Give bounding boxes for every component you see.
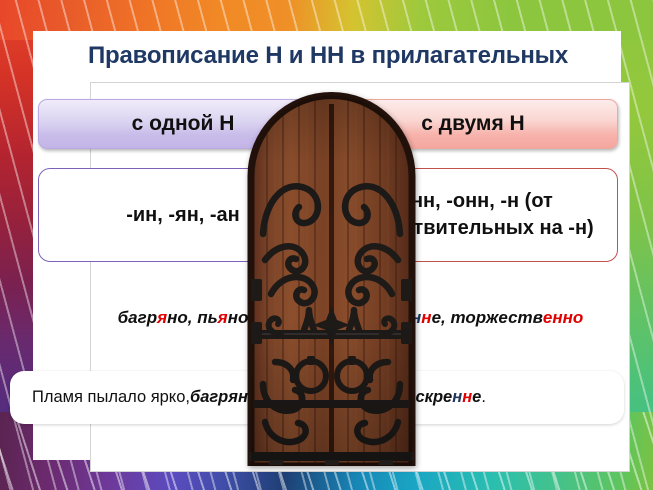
rule-box-one-n-text: -ин, -ян, -ан xyxy=(126,202,240,229)
text-run: н xyxy=(462,388,472,407)
text-run: е xyxy=(472,388,481,407)
text-run: енно xyxy=(543,308,583,328)
page-title: Правописание Н и НН в прилагательных xyxy=(58,42,598,70)
text-run: но xyxy=(228,308,249,328)
text-run: багр xyxy=(118,308,157,328)
text-run: я xyxy=(157,308,167,328)
wooden-door-image xyxy=(247,84,416,466)
text-run: Пламя пылало ярко, xyxy=(32,388,190,407)
text-run: е, торжеств xyxy=(432,308,543,328)
text-run: но, пь xyxy=(167,308,218,328)
text-run: н xyxy=(452,388,462,407)
text-run: н xyxy=(421,308,431,328)
text-run: . xyxy=(481,388,486,407)
text-run: я xyxy=(218,308,228,328)
column-header-two-n-label: с двумя Н xyxy=(421,112,524,136)
column-header-one-n-label: с одной Н xyxy=(132,112,235,136)
slide-canvas: Правописание Н и НН в прилагательных с о… xyxy=(0,0,653,490)
